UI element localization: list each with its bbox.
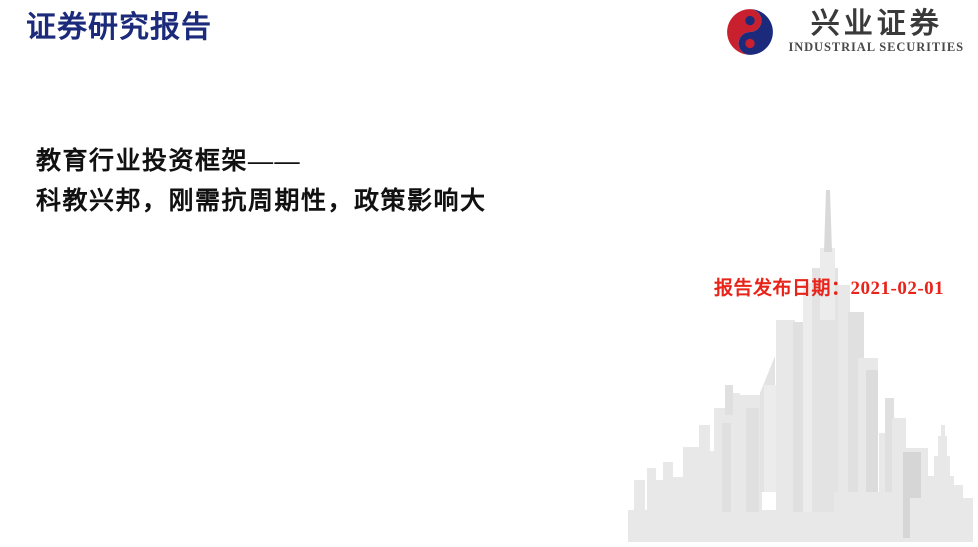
- publish-date-label: 报告发布日期：2021-02-01: [714, 277, 944, 301]
- industrial-securities-swirl-logo-icon: [724, 6, 776, 58]
- brand-text-block: 兴业证券 INDUSTRIAL SECURITIES: [785, 9, 964, 55]
- brand-name-english: INDUSTRIAL SECURITIES: [785, 40, 964, 55]
- brand-name-chinese: 兴业证券: [807, 9, 943, 40]
- page-header-label: 证券研究报告: [26, 8, 212, 48]
- report-cover-page: 证券研究报告 兴业证券 INDUSTRIAL SECURITIES: [0, 0, 978, 547]
- report-title-line-2: 科教兴邦，刚需抗周期性，政策影响大: [36, 182, 487, 222]
- report-title-line-1: 教育行业投资框架——: [36, 142, 487, 182]
- city-skyline-svg: [600, 180, 978, 547]
- skyline-shapes: [628, 190, 973, 542]
- brand-logo: 兴业证券 INDUSTRIAL SECURITIES: [724, 6, 964, 58]
- city-skyline-illustration: [600, 180, 978, 547]
- report-title: 教育行业投资框架—— 科教兴邦，刚需抗周期性，政策影响大: [36, 142, 487, 222]
